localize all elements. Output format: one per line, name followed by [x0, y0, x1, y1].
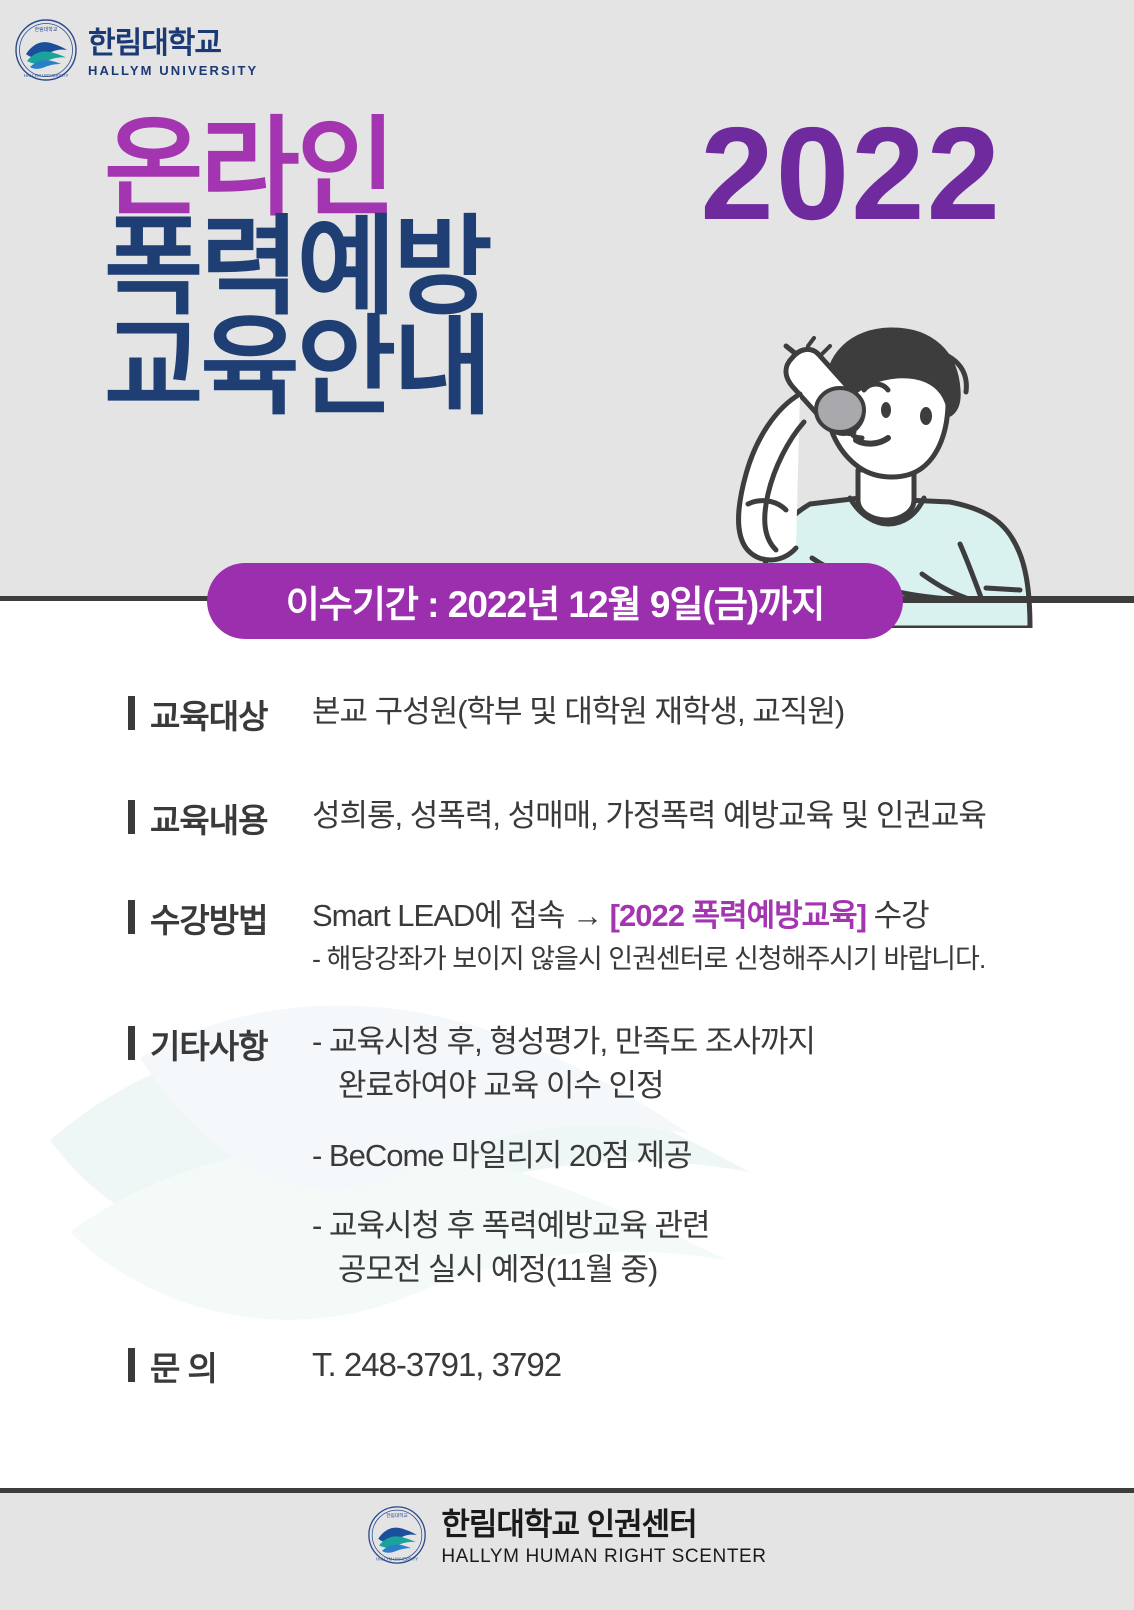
info-label-target: 교육대상: [150, 690, 312, 738]
footer-name-ko: 한림대학교 인권센터: [441, 1509, 766, 1540]
svg-text:HALLYM UNIVERSITY: HALLYM UNIVERSITY: [24, 73, 69, 78]
note-line-1: - BeCome 마일리지 20점 제공: [312, 1138, 692, 1173]
title-line-1: 온라인: [104, 118, 489, 217]
note-line-1: - 교육시청 후 폭력예방교육 관련: [312, 1208, 710, 1243]
title-line-3: 교육안내: [104, 317, 489, 416]
note-line-2: 공모전 실시 예정(11월 중): [312, 1248, 1134, 1292]
completion-period-badge: 이수기간 : 2022년 12월 9일(금)까지: [207, 563, 903, 639]
university-name-ko: 한림대학교: [88, 29, 258, 59]
bar-marker-icon: [128, 696, 135, 730]
info-row-content: 교육내용 성희롱, 성폭력, 성매매, 가정폭력 예방교육 및 인권교육: [0, 794, 1134, 842]
method-note: - 해당강좌가 보이지 않을시 인권센터로 신청해주시기 바랍니다.: [312, 940, 1134, 978]
university-logo: 한림대학교 HALLYM UNIVERSITY 한림대학교 HALLYM UNI…: [14, 18, 258, 87]
poster-year: 2022: [700, 108, 1002, 240]
info-label-contact: 문 의: [150, 1342, 312, 1390]
note-item: - 교육시청 후 폭력예방교육 관련 공모전 실시 예정(11월 중): [312, 1204, 1134, 1292]
info-value-notes: - 교육시청 후, 형성평가, 만족도 조사까지 완료하여야 교육 이수 인정 …: [312, 1020, 1134, 1292]
bar-marker-icon: [128, 1026, 135, 1060]
hallym-wave-emblem-icon: 한림대학교 HALLYM UNIVERSITY: [14, 18, 78, 87]
info-label-method: 수강방법: [150, 894, 312, 942]
title-line-2: 폭력예방: [104, 217, 489, 316]
info-value-method: Smart LEAD에 접속 → [2022 폭력예방교육] 수강 - 해당강좌…: [312, 894, 1134, 978]
university-name-en: HALLYM UNIVERSITY: [88, 64, 258, 77]
footer-name-en: HALLYM HUMAN RIGHT SCENTER: [441, 1547, 766, 1566]
info-label-notes: 기타사항: [150, 1020, 312, 1068]
info-row-target: 교육대상 본교 구성원(학부 및 대학원 재학생, 교직원): [0, 690, 1134, 738]
note-line-2: 완료하여야 교육 이수 인정: [312, 1064, 1134, 1108]
footer-wordmark: 한림대학교 인권센터 HALLYM HUMAN RIGHT SCENTER: [441, 1509, 766, 1566]
university-wordmark: 한림대학교 HALLYM UNIVERSITY: [88, 29, 258, 77]
hallym-wave-emblem-icon: 한림대학교 HALLYM UNIVERSITY: [367, 1505, 427, 1570]
bar-marker-icon: [128, 800, 135, 834]
info-row-contact: 문 의 T. 248-3791, 3792: [0, 1342, 1134, 1390]
method-text-post: 수강: [866, 898, 929, 933]
info-value-target: 본교 구성원(학부 및 대학원 재학생, 교직원): [312, 690, 1134, 734]
svg-text:한림대학교: 한림대학교: [34, 26, 57, 33]
info-value-content: 성희롱, 성폭력, 성매매, 가정폭력 예방교육 및 인권교육: [312, 794, 1134, 838]
bar-marker-icon: [128, 1348, 135, 1382]
info-value-contact: T. 248-3791, 3792: [312, 1342, 1134, 1389]
svg-text:HALLYM UNIVERSITY: HALLYM UNIVERSITY: [376, 1556, 418, 1561]
info-section: 교육대상 본교 구성원(학부 및 대학원 재학생, 교직원) 교육내용 성희롱,…: [0, 690, 1134, 1390]
poster-canvas: 한림대학교 HALLYM UNIVERSITY 한림대학교 HALLYM UNI…: [0, 0, 1134, 1610]
method-text-pre: Smart LEAD에 접속 →: [312, 898, 610, 933]
note-item: - BeCome 마일리지 20점 제공: [312, 1134, 1134, 1178]
method-course-name: [2022 폭력예방교육]: [610, 898, 866, 933]
svg-text:한림대학교: 한림대학교: [387, 1512, 409, 1519]
footer-logo: 한림대학교 HALLYM UNIVERSITY 한림대학교 인권센터 HALLY…: [0, 1505, 1134, 1570]
note-line-1: - 교육시청 후, 형성평가, 만족도 조사까지: [312, 1024, 815, 1059]
info-row-notes: 기타사항 - 교육시청 후, 형성평가, 만족도 조사까지 완료하여야 교육 이…: [0, 1020, 1134, 1292]
poster-title: 온라인 폭력예방 교육안내: [104, 118, 489, 416]
info-label-content: 교육내용: [150, 794, 312, 842]
info-row-method: 수강방법 Smart LEAD에 접속 → [2022 폭력예방교육] 수강 -…: [0, 894, 1134, 978]
bar-marker-icon: [128, 900, 135, 934]
note-item: - 교육시청 후, 형성평가, 만족도 조사까지 완료하여야 교육 이수 인정: [312, 1020, 1134, 1108]
